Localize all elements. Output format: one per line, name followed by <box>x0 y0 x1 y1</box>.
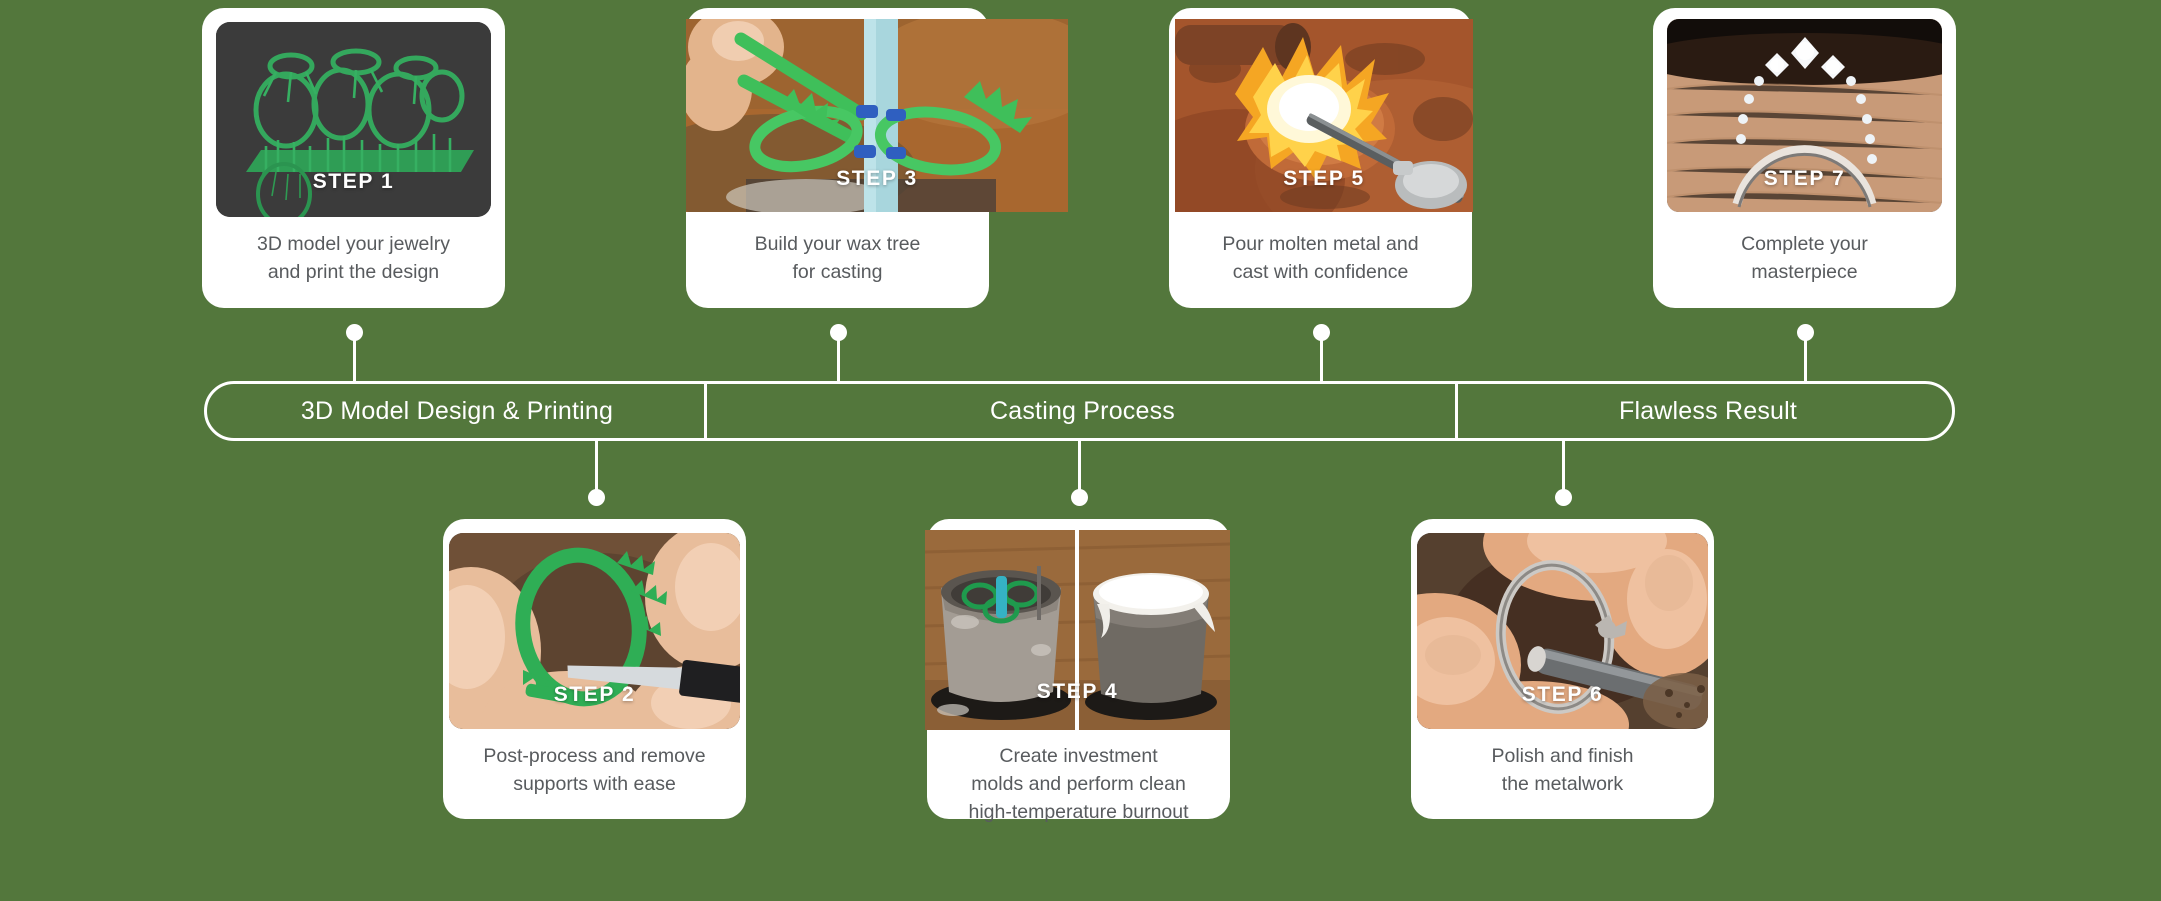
phase-label-result: Flawless Result <box>1619 397 1797 426</box>
finished-diamond-ring-photo: STEP 7 <box>1667 19 1942 212</box>
phase-segment-result[interactable]: Flawless Result <box>1458 384 1958 438</box>
resin-print-tree-photo: STEP 1 <box>216 22 491 217</box>
molten-metal-pour-photo: STEP 5 <box>1175 19 1473 212</box>
step-card-2[interactable]: STEP 2 Post-process and remove supports … <box>443 519 746 819</box>
connector-dot-step4 <box>1071 489 1088 506</box>
workflow-diagram: STEP 1 3D model your jewelry and print t… <box>0 0 2161 901</box>
step-caption-4: Create investment molds and perform clea… <box>927 742 1230 826</box>
step-caption-6: Polish and finish the metalwork <box>1411 742 1714 798</box>
support-removal-photo: STEP 2 <box>449 533 740 729</box>
step-caption-7: Complete your masterpiece <box>1653 230 1956 286</box>
phase-segment-3d-model[interactable]: 3D Model Design & Printing <box>207 384 707 438</box>
step-card-4[interactable]: STEP 4 Create investment molds and perfo… <box>927 519 1230 819</box>
connector-dot-step2 <box>588 489 605 506</box>
step-card-5[interactable]: STEP 5 Pour molten metal and cast with c… <box>1169 8 1472 308</box>
polishing-ring-photo: STEP 6 <box>1417 533 1708 729</box>
connector-line-step2 <box>595 440 598 496</box>
step-card-6[interactable]: STEP 6 Polish and finish the metalwork <box>1411 519 1714 819</box>
step-card-3[interactable]: STEP 3 Build your wax tree for casting <box>686 8 989 308</box>
wax-tree-assembly-photo: STEP 3 <box>686 19 1068 212</box>
step-card-1[interactable]: STEP 1 3D model your jewelry and print t… <box>202 8 505 308</box>
phase-label-casting: Casting Process <box>990 397 1175 426</box>
phase-segment-casting[interactable]: Casting Process <box>707 384 1458 438</box>
step-card-7[interactable]: STEP 7 Complete your masterpiece <box>1653 8 1956 308</box>
connector-line-step4 <box>1078 440 1081 496</box>
phase-label-3d-model: 3D Model Design & Printing <box>301 397 613 426</box>
step-caption-2: Post-process and remove supports with ea… <box>443 742 746 798</box>
connector-dot-step5 <box>1313 324 1330 341</box>
connector-dot-step6 <box>1555 489 1572 506</box>
investment-flask-photo: STEP 4 <box>925 530 1230 730</box>
step-caption-1: 3D model your jewelry and print the desi… <box>202 230 505 286</box>
connector-dot-step3 <box>830 324 847 341</box>
connector-dot-step7 <box>1797 324 1814 341</box>
step-caption-3: Build your wax tree for casting <box>686 230 989 286</box>
step-caption-5: Pour molten metal and cast with confiden… <box>1169 230 1472 286</box>
phase-bar: 3D Model Design & Printing Casting Proce… <box>204 381 1955 441</box>
connector-line-step6 <box>1562 440 1565 496</box>
connector-dot-step1 <box>346 324 363 341</box>
